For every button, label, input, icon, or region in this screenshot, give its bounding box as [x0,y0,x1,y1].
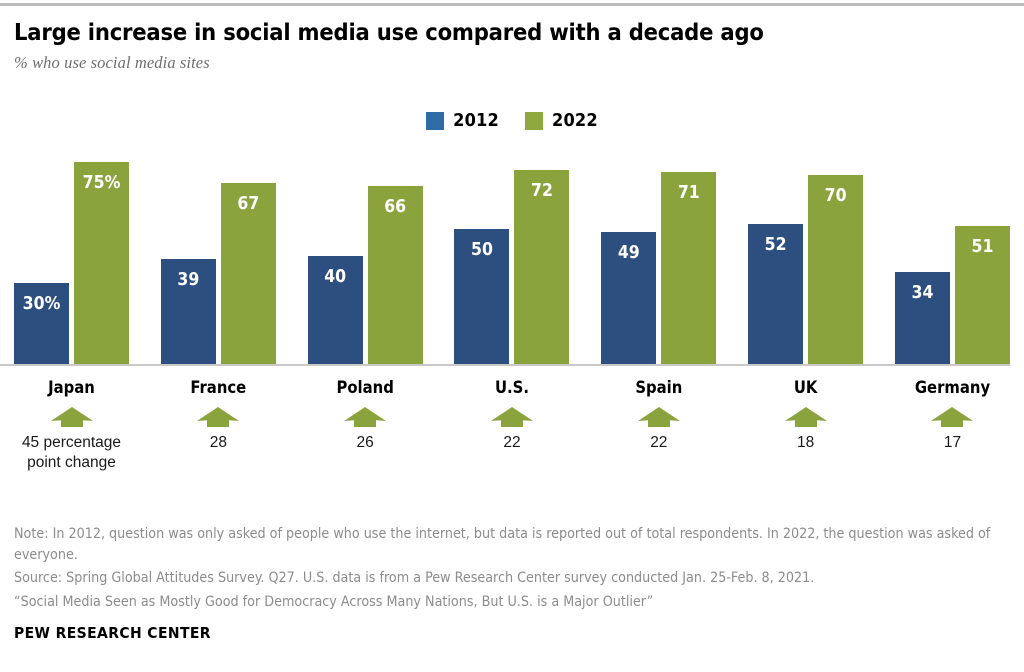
bar-2022-poland[interactable]: 66 [368,186,423,364]
change-cell-france: 28 [161,406,276,453]
bar-group: 5270 [748,148,863,364]
change-cell-us: 22 [454,406,569,453]
bar-2022-spain[interactable]: 71 [661,172,716,364]
bar-group: 4971 [601,148,716,364]
country-label-japan: Japan [14,378,129,397]
bar-value-label: 39 [177,272,199,364]
bar-groups: 30%75%396740665072497152703451 [14,148,1010,364]
bar-group: 3967 [161,148,276,364]
pew-bar-chart: Large increase in social media use compa… [0,0,1024,672]
country-label-spain: Spain [601,378,716,397]
bar-value-label: 70 [825,188,847,364]
bar-value-label: 71 [678,185,700,364]
change-cell-uk: 18 [748,406,863,453]
bar-value-label: 49 [618,245,640,364]
bar-value-label: 52 [765,237,787,364]
bar-value-label: 67 [237,196,259,364]
country-label-uk: UK [748,378,863,397]
pew-research-center-logo: PEW RESEARCH CENTER [14,624,211,642]
legend-item-2022[interactable]: 2022 [525,110,598,131]
bar-value-label: 34 [912,285,934,364]
arrow-up-icon [196,406,240,428]
change-cell-spain: 22 [601,406,716,453]
chart-subtitle: % who use social media sites [14,53,1010,73]
arrow-up-icon [930,406,974,428]
bar-group: 3451 [895,148,1010,364]
legend-label-2022: 2022 [552,110,598,131]
bar-value-label: 40 [324,269,346,364]
bar-2012-uk[interactable]: 52 [748,224,803,364]
footnote-source: Source: Spring Global Attitudes Survey. … [14,568,1014,589]
change-label: 22 [650,433,667,453]
plot-area: 30%75%396740665072497152703451 [14,148,1010,364]
country-label-poland: Poland [308,378,423,397]
change-label: 45 percentage point change [22,433,121,473]
change-indicators-row: 45 percentage point change282622221817 [14,406,1010,473]
change-label: 18 [797,433,814,453]
arrow-up-icon [50,406,94,428]
bar-value-label: 72 [531,183,553,364]
bar-value-label: 30% [23,296,61,364]
bar-group: 5072 [454,148,569,364]
arrow-up-icon [637,406,681,428]
bar-2022-france[interactable]: 67 [221,183,276,364]
page-title: Large increase in social media use compa… [14,19,1010,45]
legend-swatch-2012-icon [426,112,444,130]
change-label: 22 [503,433,520,453]
bar-group: 30%75% [14,148,129,364]
legend-item-2012[interactable]: 2012 [426,110,499,131]
footnotes: Note: In 2012, question was only asked o… [14,524,1014,612]
bar-value-label: 66 [384,199,406,364]
bar-2012-us[interactable]: 50 [454,229,509,364]
legend-label-2012: 2012 [453,110,499,131]
change-label: 26 [357,433,374,453]
country-label-germany: Germany [895,378,1010,397]
bar-2012-japan[interactable]: 30% [14,283,69,364]
change-label: 28 [210,433,227,453]
change-cell-japan: 45 percentage point change [14,406,129,473]
bar-value-label: 75% [83,175,121,365]
arrow-up-icon [784,406,828,428]
arrow-up-icon [343,406,387,428]
bar-2022-uk[interactable]: 70 [808,175,863,364]
bar-2022-us[interactable]: 72 [514,170,569,364]
bar-value-label: 50 [471,242,493,364]
bar-group: 4066 [308,148,423,364]
arrow-up-icon [490,406,534,428]
country-labels-row: JapanFrancePolandU.S.SpainUKGermany [14,378,1010,397]
bar-2022-germany[interactable]: 51 [955,226,1010,364]
change-cell-germany: 17 [895,406,1010,453]
change-cell-poland: 26 [308,406,423,453]
bar-2022-japan[interactable]: 75% [74,162,129,365]
axis-baseline [0,364,1010,366]
bar-value-label: 51 [972,239,994,364]
top-divider-rule [0,3,1024,6]
chart-header: Large increase in social media use compa… [14,0,1010,73]
chart-legend: 2012 2022 [0,110,1024,131]
bar-2012-poland[interactable]: 40 [308,256,363,364]
footnote-note: Note: In 2012, question was only asked o… [14,524,1014,565]
change-label: 17 [944,433,961,453]
bar-2012-spain[interactable]: 49 [601,232,656,364]
bar-2012-germany[interactable]: 34 [895,272,950,364]
bar-2012-france[interactable]: 39 [161,259,216,364]
country-label-us: U.S. [454,378,569,397]
footnote-report-title: “Social Media Seen as Mostly Good for De… [14,592,1014,613]
country-label-france: France [161,378,276,397]
legend-swatch-2022-icon [525,112,543,130]
